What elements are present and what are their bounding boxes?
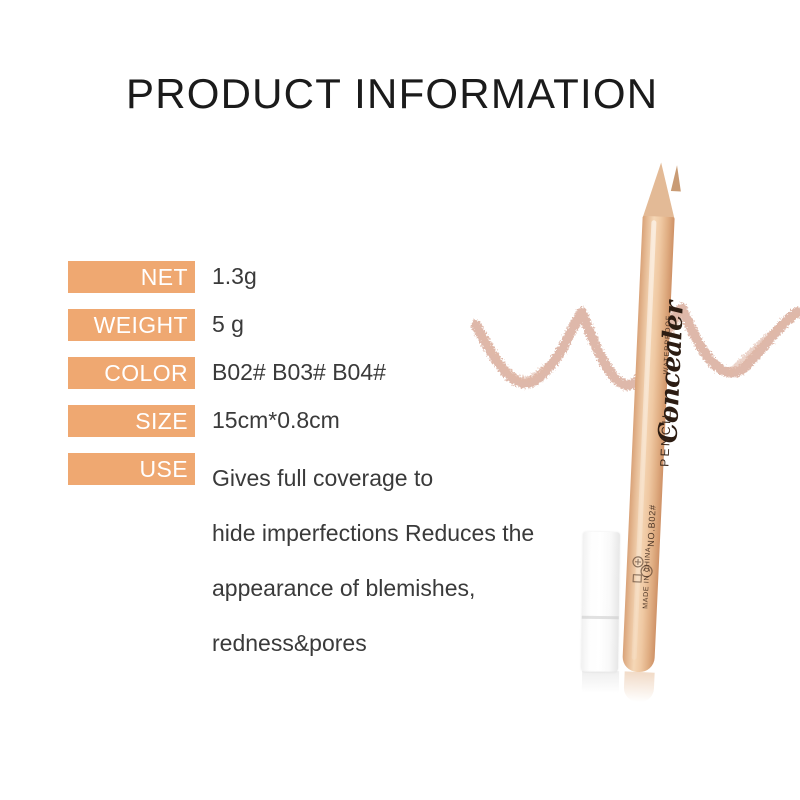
spec-value-net: 1.3g (212, 259, 257, 293)
spec-value-use: Gives full coverage to hide imperfection… (212, 451, 612, 671)
use-line: redness&pores (212, 616, 612, 671)
spec-label-size: SIZE (68, 405, 195, 437)
spec-label-color: COLOR (68, 357, 195, 389)
spec-label-weight: WEIGHT (68, 309, 195, 341)
spec-value-color: B02# B03# B04# (212, 355, 386, 389)
product-information-page: PRODUCT INFORMATION (0, 0, 800, 800)
spec-label-net: NET (68, 261, 195, 293)
spec-label-use: USE (68, 453, 195, 485)
pencil-tip (643, 162, 678, 219)
table-row: WEIGHT 5 g (68, 309, 588, 357)
table-row: NET 1.3g (68, 261, 588, 309)
table-row: USE Gives full coverage to hide imperfec… (68, 453, 588, 501)
use-line: appearance of blemishes, (212, 561, 612, 616)
spec-value-weight: 5 g (212, 307, 244, 341)
pencil-tip-core (671, 165, 682, 191)
cap-shadow (582, 671, 619, 694)
page-title: PRODUCT INFORMATION (126, 70, 658, 118)
table-row: SIZE 15cm*0.8cm (68, 405, 588, 453)
spec-value-size: 15cm*0.8cm (212, 403, 340, 437)
use-line: Gives full coverage to (212, 451, 612, 506)
table-row: COLOR B02# B03# B04# (68, 357, 588, 405)
use-line: hide imperfections Reduces the (212, 506, 612, 561)
spec-table: NET 1.3g WEIGHT 5 g COLOR B02# B03# B04#… (68, 261, 588, 501)
